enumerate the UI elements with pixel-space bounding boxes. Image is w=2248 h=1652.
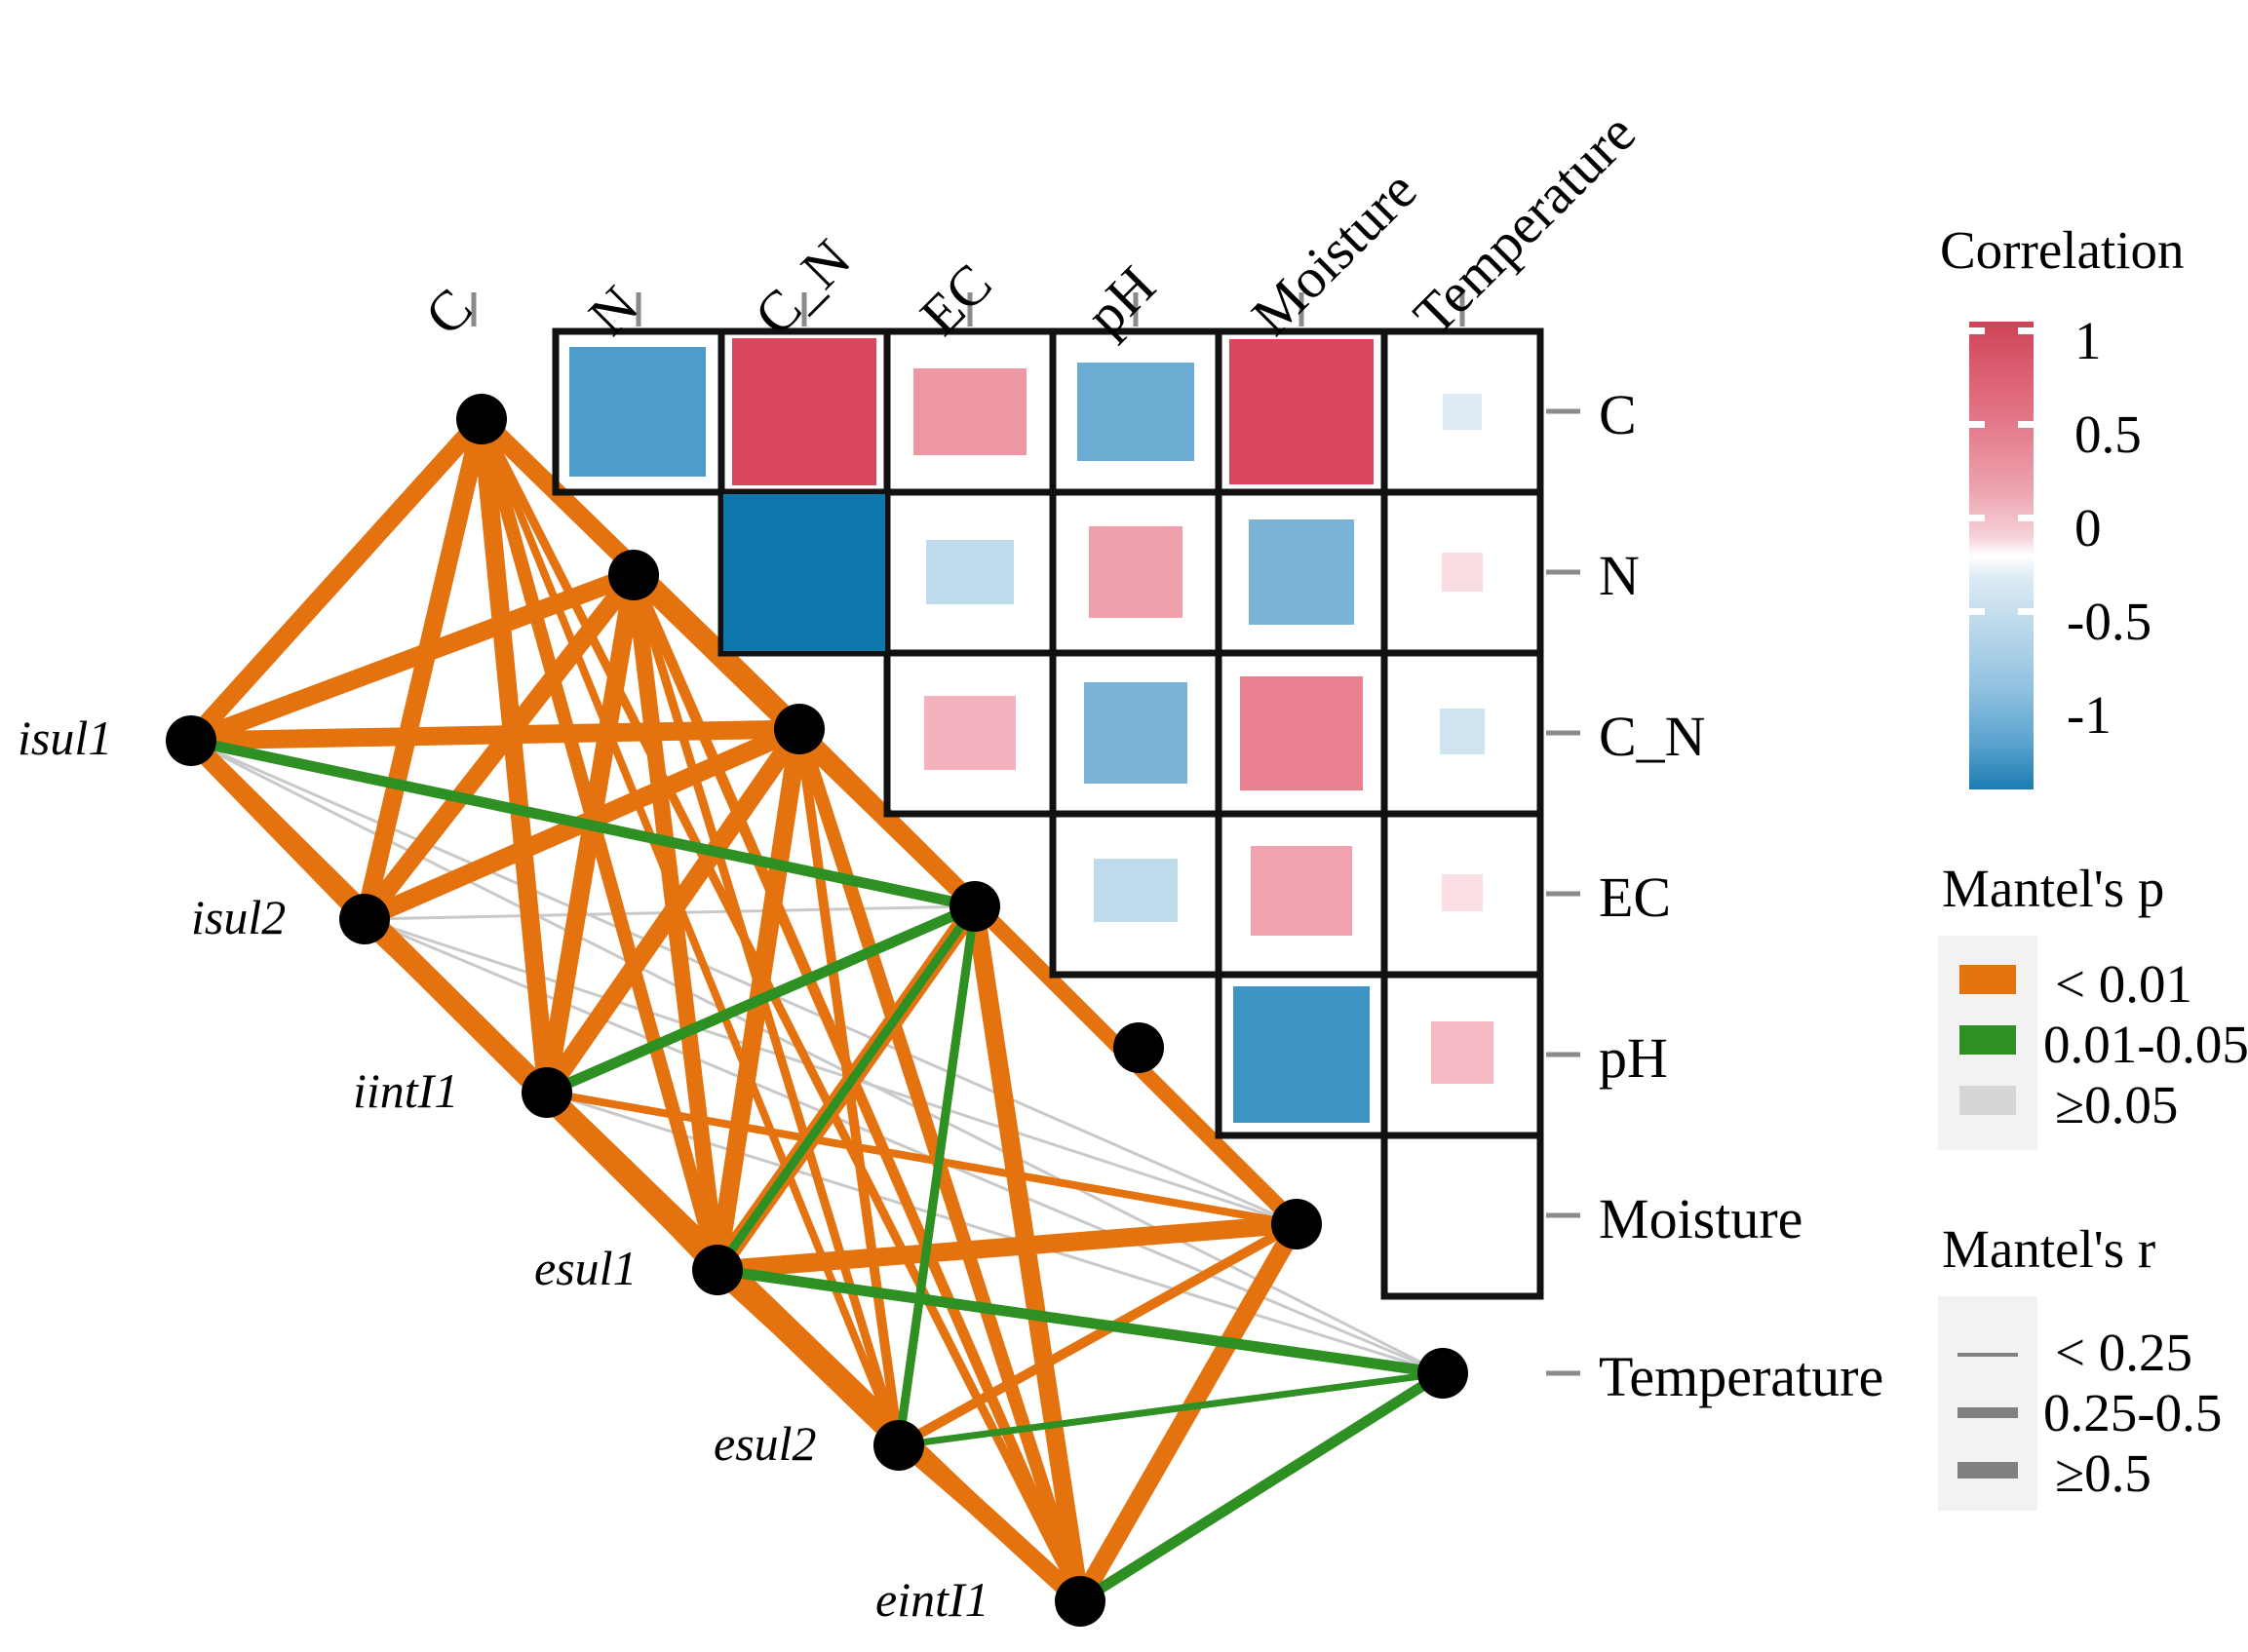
legend-mantel-p-title: Mantel's p: [1942, 858, 2164, 919]
node-label-iintI1: iintI1: [353, 1062, 458, 1119]
row-label-EC: EC: [1599, 864, 1671, 930]
cell-EC-Temperature: [1442, 874, 1483, 911]
node-label-esul2: esul2: [714, 1415, 817, 1472]
legend-mantel-r-title: Mantel's r: [1942, 1218, 2155, 1280]
colorbar-notch-1b: [2018, 327, 2034, 334]
node-env-C: [456, 394, 507, 444]
node-eintI1: [1055, 1576, 1105, 1627]
node-label-isul2: isul2: [191, 889, 286, 945]
colorbar-tick-1: 1: [2074, 310, 2102, 371]
legend-label-p-gte005: ≥0.05: [2055, 1074, 2178, 1135]
node-env-N: [608, 550, 659, 600]
cell-N-Temperature: [1442, 553, 1483, 592]
cell-C-N: [569, 347, 706, 477]
colorbar-tick--1: -1: [2067, 684, 2112, 746]
colorbar-notch-n05: [1969, 608, 1985, 615]
figure-canvas: [0, 0, 2248, 1652]
node-isul2: [339, 894, 390, 944]
colorbar-notch-0b: [2018, 515, 2034, 521]
cell-N-Moisture: [1249, 519, 1354, 625]
colorbar-tick--0.5: -0.5: [2067, 591, 2151, 652]
cell-N-pH: [1089, 526, 1182, 618]
legend-mantel-r-panel: [1938, 1296, 2037, 1511]
node-isul1: [166, 715, 216, 766]
legend-label-p-001005: 0.01-0.05: [2043, 1014, 2248, 1075]
row-label-Temperature: Temperature: [1599, 1344, 1883, 1409]
cell-EC-pH: [1094, 859, 1178, 922]
legend-swatch-p-lt001: [1959, 965, 2016, 994]
node-esul2: [873, 1420, 924, 1471]
cell-C-C_N: [732, 338, 876, 485]
cell-C-Temperature: [1443, 394, 1482, 430]
colorbar-notch-1: [1969, 327, 1985, 334]
node-env-C_N: [774, 704, 825, 754]
node-label-eintI1: eintI1: [875, 1571, 989, 1628]
cell-N-C_N: [723, 494, 885, 651]
colorbar-notch-0: [1969, 515, 1985, 521]
node-label-isul1: isul1: [18, 710, 112, 766]
legend-swatch-p-gte005: [1959, 1086, 2016, 1115]
legend-label-r-gte05: ≥0.5: [2055, 1442, 2151, 1504]
cell-C_N-Moisture: [1240, 676, 1363, 790]
cell-N-EC: [926, 540, 1014, 604]
cell-C_N-Temperature: [1440, 709, 1485, 754]
mantel-correlation-figure: C N C_N EC pH Moisture Temperature C N C…: [0, 0, 2248, 1652]
node-env-EC: [950, 881, 1000, 932]
legend-label-p-lt001: < 0.01: [2055, 953, 2192, 1015]
legend-correlation-title: Correlation: [1940, 219, 2184, 281]
row-label-Moisture: Moisture: [1599, 1186, 1802, 1251]
row-label-pH: pH: [1599, 1025, 1668, 1091]
legend-line-r-gte05: [1957, 1462, 2018, 1479]
cell-C_N-pH: [1084, 682, 1187, 784]
cell-C-Moisture: [1229, 339, 1374, 484]
correlation-colorbar: [1969, 322, 2034, 789]
node-env-pH: [1113, 1022, 1164, 1073]
row-label-N: N: [1599, 543, 1640, 608]
colorbar-tick-0: 0: [2074, 497, 2102, 558]
cell-C_N-EC: [924, 696, 1016, 770]
cell-pH-Moisture: [1233, 986, 1370, 1123]
node-iintI1: [522, 1067, 572, 1118]
legend-line-r-025050: [1957, 1407, 2018, 1418]
cell-EC-Moisture: [1251, 846, 1352, 936]
node-env-Temp: [1417, 1348, 1468, 1399]
cell-C-pH: [1077, 363, 1194, 461]
legend-swatch-p-001005: [1959, 1025, 2016, 1055]
colorbar-notch-05b: [2018, 421, 2034, 428]
cell-pH-Temperature: [1431, 1021, 1493, 1084]
legend-label-r-025050: 0.25-0.5: [2043, 1382, 2222, 1443]
colorbar-notch-05: [1969, 421, 1985, 428]
legend-label-r-lt025: < 0.25: [2055, 1322, 2192, 1383]
row-label-C: C: [1599, 382, 1637, 447]
node-esul1: [692, 1245, 743, 1295]
node-label-esul1: esul1: [534, 1240, 638, 1296]
colorbar-notch-n05b: [2018, 608, 2034, 615]
node-env-Moisture: [1271, 1199, 1322, 1249]
legend-line-r-lt025: [1957, 1353, 2018, 1357]
row-label-C_N: C_N: [1599, 704, 1706, 769]
colorbar-tick-0.5: 0.5: [2074, 403, 2142, 465]
cell-C-EC: [913, 368, 1027, 455]
